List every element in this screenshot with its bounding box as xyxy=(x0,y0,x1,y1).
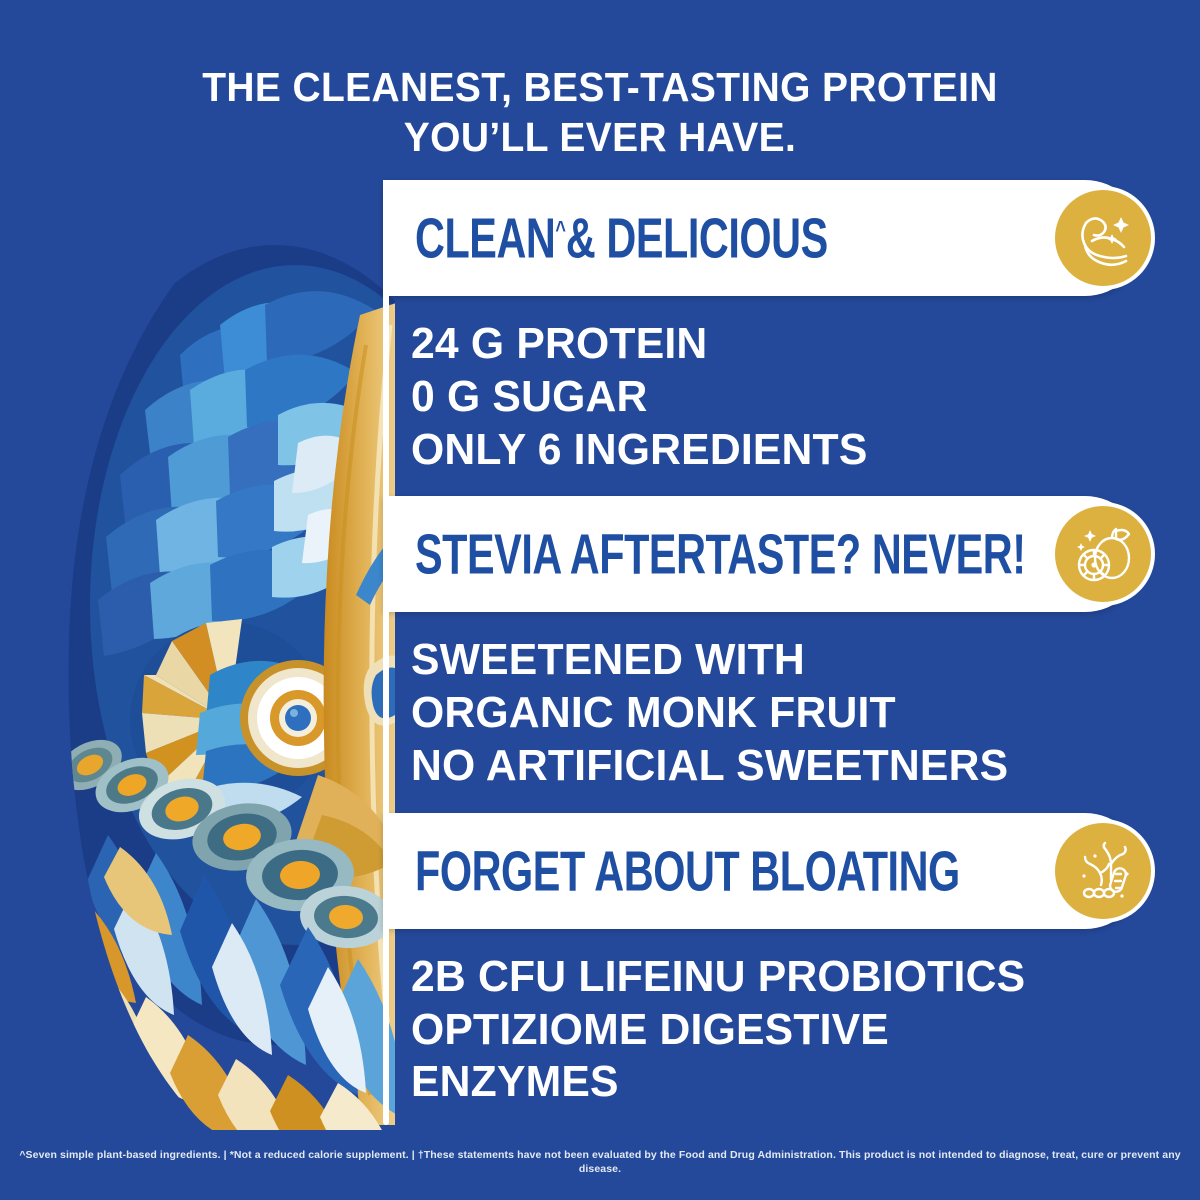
bullet-line: OPTIZIOME DIGESTIVE xyxy=(411,1004,1121,1057)
bullet-line: NO ARTIFICIAL SWEETNERS xyxy=(411,740,1121,793)
benefit-title-stevia-aftertaste: STEVIA AFTERTASTE? NEVER! xyxy=(415,521,1026,587)
bullet-line: ORGANIC MONK FRUIT xyxy=(411,687,1121,740)
benefit-bullets-stevia-aftertaste: SWEETENED WITH ORGANIC MONK FRUIT NO ART… xyxy=(411,634,1121,792)
headline-line-1: THE CLEANEST, BEST-TASTING PROTEIN xyxy=(202,64,998,110)
benefit-title-text: FORGET ABOUT BLOATING xyxy=(415,839,960,902)
flexed-bicep-icon xyxy=(1051,186,1155,290)
bullet-line: 2B CFU LIFEINU PROBIOTICS xyxy=(411,951,1121,1004)
paper-craft-owl-illustration xyxy=(60,175,420,1130)
benefits-content-column: CLEAN^& DELICIOUS 24 G PROTEIN 0 G SUGAR… xyxy=(383,180,1143,1129)
benefit-title-text-rest: & DELICIOUS xyxy=(566,206,828,269)
benefit-bullets-clean-delicious: 24 G PROTEIN 0 G SUGAR ONLY 6 INGREDIENT… xyxy=(411,318,1121,476)
benefit-banner-clean-delicious: CLEAN^& DELICIOUS xyxy=(383,180,1143,296)
monk-fruit-icon xyxy=(1051,502,1155,606)
legal-footnote: ^Seven simple plant-based ingredients. |… xyxy=(0,1148,1200,1176)
benefit-title-text: CLEAN xyxy=(415,206,555,269)
benefit-banner-stevia-aftertaste: STEVIA AFTERTASTE? NEVER! xyxy=(383,496,1143,612)
benefit-title-clean-delicious: CLEAN^& DELICIOUS xyxy=(415,205,828,271)
footnote-marker-caret: ^ xyxy=(555,217,566,244)
bullet-line: SWEETENED WITH xyxy=(411,634,1121,687)
benefit-banner-forget-bloating: FORGET ABOUT BLOATING xyxy=(383,813,1143,929)
probiotic-microbe-icon xyxy=(1051,819,1155,923)
headline-line-2: YOU’LL EVER HAVE. xyxy=(30,112,1170,162)
bullet-line: ENZYMES xyxy=(411,1056,1121,1109)
page-headline: THE CLEANEST, BEST-TASTING PROTEIN YOU’L… xyxy=(30,62,1170,162)
bullet-line: 24 G PROTEIN xyxy=(411,318,1121,371)
benefit-title-text: STEVIA AFTERTASTE? NEVER! xyxy=(415,523,1026,586)
bullet-line: ONLY 6 INGREDIENTS xyxy=(411,424,1121,477)
bullet-line: 0 G SUGAR xyxy=(411,371,1121,424)
benefit-bullets-forget-bloating: 2B CFU LIFEINU PROBIOTICS OPTIZIOME DIGE… xyxy=(411,951,1121,1109)
vertical-divider-line xyxy=(383,180,389,1125)
benefit-title-forget-bloating: FORGET ABOUT BLOATING xyxy=(415,838,960,904)
